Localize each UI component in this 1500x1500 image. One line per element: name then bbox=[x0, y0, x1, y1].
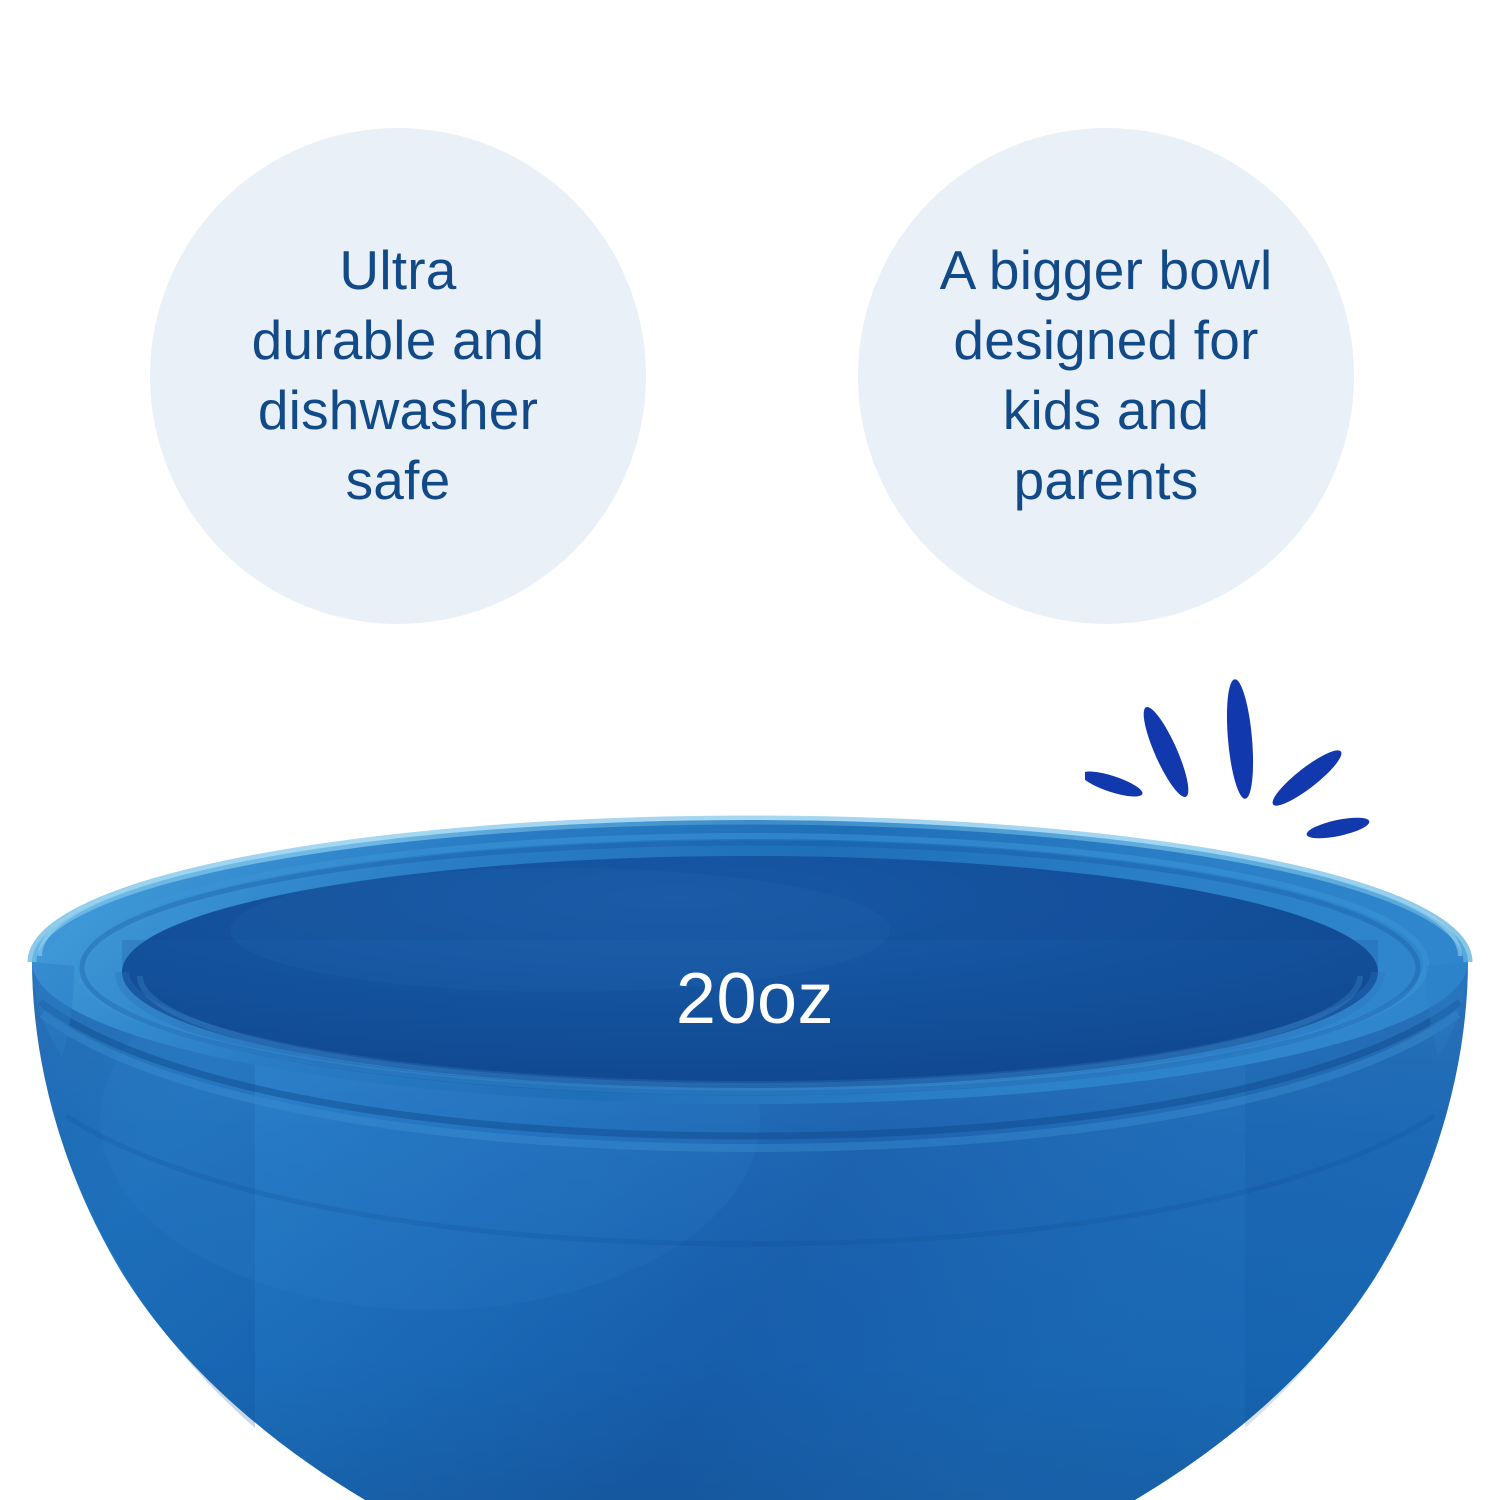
sparkle-ray-3 bbox=[1223, 678, 1257, 800]
product-feature-graphic: Ultra durable and dishwasher safe A bigg… bbox=[0, 0, 1500, 1500]
sparkle-ray-1 bbox=[1085, 767, 1145, 802]
sparkle-rays bbox=[1085, 678, 1371, 842]
sparkle-ray-4 bbox=[1267, 744, 1347, 813]
sparkle-ray-2 bbox=[1136, 703, 1196, 801]
sparkle-ray-5 bbox=[1305, 814, 1371, 843]
sparkle-burst-icon bbox=[1085, 668, 1375, 853]
bowl-cavity-light-pool bbox=[230, 868, 890, 992]
